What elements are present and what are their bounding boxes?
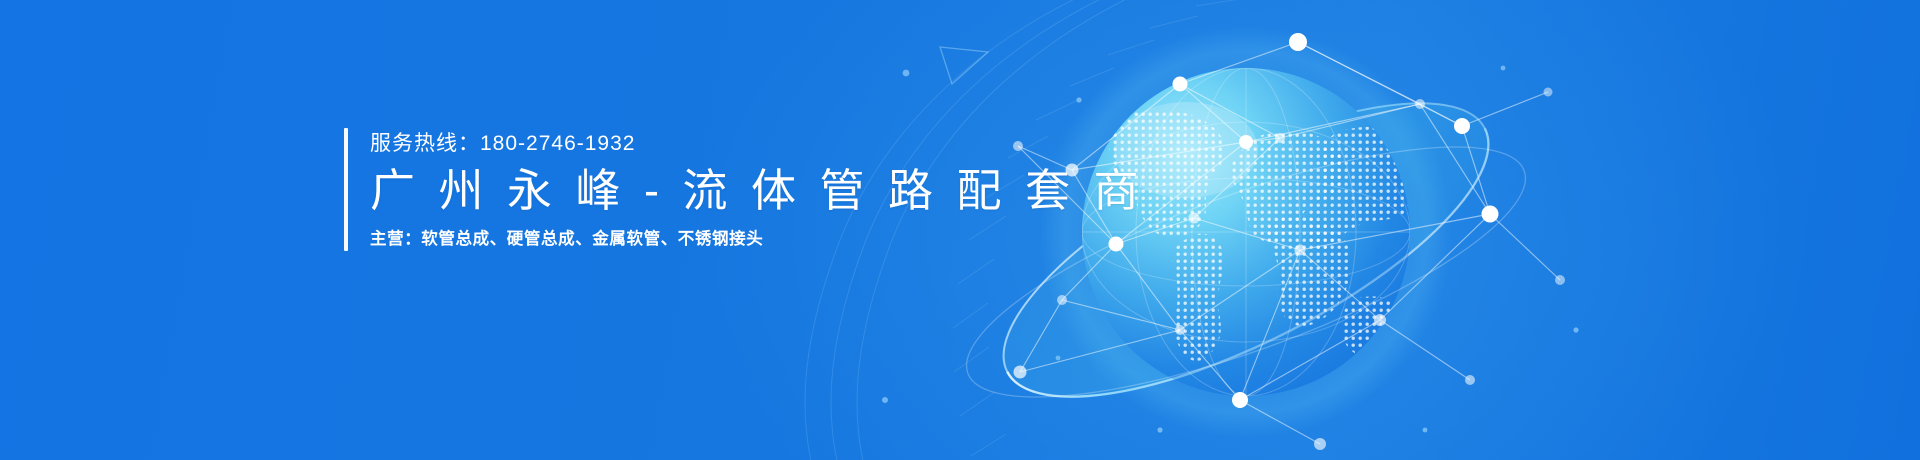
banner-text-block: 服务热线：180-2746-1932 广 州 永 峰 - 流 体 管 路 配 套… (344, 128, 1144, 251)
banner-headline: 广 州 永 峰 - 流 体 管 路 配 套 商 (370, 164, 1144, 219)
hero-banner: 服务热线：180-2746-1932 广 州 永 峰 - 流 体 管 路 配 套… (0, 0, 1920, 460)
banner-text-lines: 服务热线：180-2746-1932 广 州 永 峰 - 流 体 管 路 配 套… (370, 128, 1144, 251)
banner-subheadline: 主营：软管总成、硬管总成、金属软管、不锈钢接头 (370, 229, 1144, 250)
vertical-accent-bar (344, 128, 348, 251)
service-hotline: 服务热线：180-2746-1932 (370, 130, 1144, 158)
